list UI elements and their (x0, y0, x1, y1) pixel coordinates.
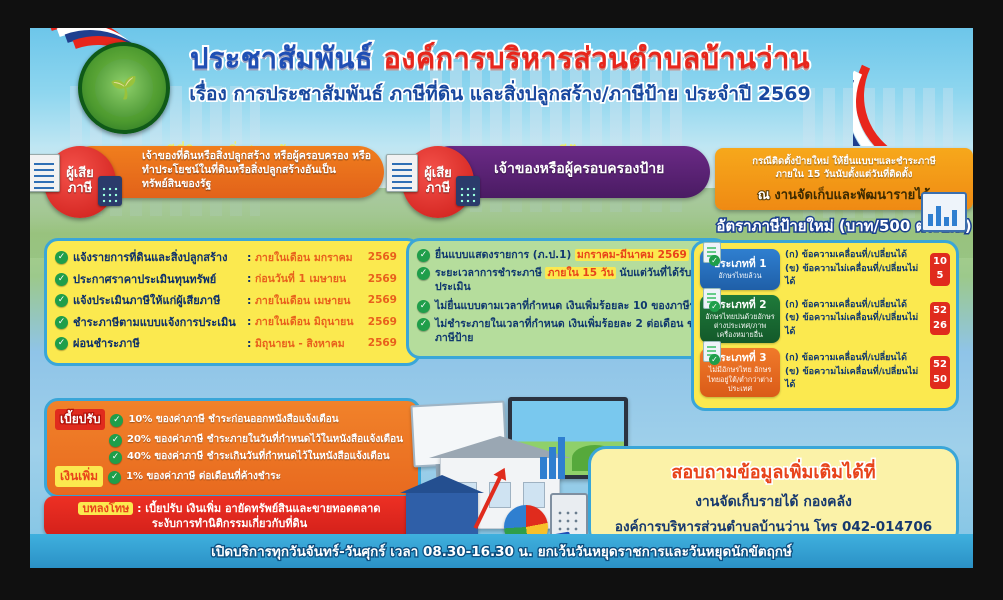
frame-left (0, 0, 30, 600)
calculator-icon (98, 176, 122, 206)
schedule-year: 2569 (363, 316, 397, 328)
penalty-text: 1% ของค่าภาษี ต่อเดือนที่ค้างชำระ (126, 469, 281, 484)
check-icon: ✓ (55, 273, 68, 286)
schedule-year: 2569 (363, 251, 397, 263)
contact-office: งานจัดเก็บรายได้ กองคลัง (601, 491, 946, 513)
rate-type-desc: ไม่มีอักษรไทย อักษรไทยอยู่ใต้/ต่ำกว่าต่า… (703, 365, 777, 393)
schedule-when: ภายในเดือน มิถุนายน (255, 313, 363, 330)
poster-canvas: 🌱 ประชาสัมพันธ์ องค์การบริหารส่วนตำบลบ้า… (30, 28, 973, 568)
rate-value: 26 (930, 319, 950, 334)
rate-item: (ก) ข้อความเคลื่อนที่/เปลี่ยนได้ (785, 299, 926, 313)
schedule-separator: : (247, 251, 255, 264)
rate-type-tag: ✓ ประเภทที่ 2 อักษรไทยปนด้วยอักษรต่างประ… (700, 295, 780, 344)
schedule-when: ภายในเดือน มกราคม (255, 249, 363, 266)
municipality-emblem: 🌱 (78, 42, 170, 134)
rate-item: (ข) ข้อความไม่เคลื่อนที่/เปลี่ยนไม่ได้ (785, 312, 926, 339)
rate-values: 10 5 (930, 253, 950, 286)
rate-item-list: (ก) ข้อความเคลื่อนที่/เปลี่ยนได้ (ข) ข้อ… (785, 299, 926, 340)
check-icon: ✓ (109, 451, 122, 464)
check-icon: ✓ (417, 318, 430, 331)
sign-tax-panel: ✓ ยื่นแบบแสดงรายการ (ภ.ป.1) มกราคม-มีนาค… (406, 238, 728, 359)
notice-line-2: ภายใน 15 วันนับตั้งแต่วันที่ติดตั้ง (723, 168, 965, 181)
schedule-when: ภายในเดือน เมษายน (255, 292, 363, 309)
schedule-year: 2569 (363, 273, 397, 285)
rate-item: (ก) ข้อความเคลื่อนที่/เปลี่ยนได้ (785, 352, 926, 366)
check-icon: ✓ (709, 301, 720, 312)
sign-tax-text: ระยะเวลาการชำระภาษี ภายใน 15 วัน นับแต่ว… (435, 266, 717, 294)
sign-tax-item: ✓ ไม่ชำระภายในเวลาที่กำหนด เงินเพิ่มร้อย… (417, 317, 717, 345)
rate-value: 52 (930, 358, 950, 373)
document-icon (30, 154, 60, 192)
schedule-separator: : (247, 315, 255, 328)
schedule-year: 2569 (363, 294, 397, 306)
rate-value: 50 (930, 373, 950, 388)
sign-tax-item: ✓ ระยะเวลาการชำระภาษี ภายใน 15 วัน นับแต… (417, 266, 717, 294)
page-title: ประชาสัมพันธ์ องค์การบริหารส่วนตำบลบ้านว… (170, 42, 830, 74)
check-icon: ✓ (110, 414, 123, 427)
calculator-icon (456, 176, 480, 206)
contact-box: สอบถามข้อมูลเพิ่มเติมได้ที่ งานจัดเก็บรา… (588, 446, 959, 548)
penalty-row: ✓ 20% ของค่าภาษี ชำระภายในวันที่กำหนดไว้… (55, 432, 410, 447)
check-icon: ✓ (108, 471, 121, 484)
penalty-row: เงินเพิ่ม ✓ 1% ของค่าภาษี ต่อเดือนที่ค้า… (55, 466, 410, 487)
rate-type-desc: อักษรไทยปนด้วยอักษรต่างประเทศ/ภาพเครื่อง… (703, 312, 777, 340)
frame-right (973, 0, 1003, 600)
schedule-row: ✓ผ่อนชำระภาษี : มิถุนายน - สิงหาคม 2569 (55, 334, 410, 352)
operating-hours-bar: เปิดบริการทุกวันจันทร์-วันศุกร์ เวลา 08.… (30, 534, 973, 568)
rate-item: (ก) ข้อความเคลื่อนที่/เปลี่ยนได้ (785, 249, 926, 263)
taxpayer-capsule-row: ภาษีที่ดินและสิ่งปลูกสร้าง เจ้าของที่ดิน… (30, 146, 973, 242)
page-subtitle: เรื่อง การประชาสัมพันธ์ ภาษีที่ดิน และสิ… (170, 79, 830, 109)
rate-cells: (ก) ข้อความเคลื่อนที่/เปลี่ยนได้ (ข) ข้อ… (785, 295, 950, 344)
schedule-label: ชำระภาษีตามแบบแจ้งการประเมิน (73, 313, 236, 331)
rate-row: ✓ ประเภทที่ 1 อักษรไทยล้วน (ก) ข้อความเค… (700, 249, 950, 290)
schedule-separator: : (247, 272, 255, 285)
rate-item: (ข) ข้อความไม่เคลื่อนที่/เปลี่ยนไม่ได้ (785, 366, 926, 393)
rate-row: ✓ ประเภทที่ 2 อักษรไทยปนด้วยอักษรต่างประ… (700, 295, 950, 344)
fine-tag: เบี้ยปรับ (55, 409, 105, 430)
schedule-separator: : (247, 294, 255, 307)
new-sign-notice: กรณีติดตั้งป้ายใหม่ ให้ยื่นแบบฯและชำระภา… (715, 148, 973, 238)
rate-value: 10 (930, 255, 950, 270)
penalty-row: ✓ 40% ของค่าภาษี ชำระเกินวันที่กำหนดไว้ใ… (55, 449, 410, 464)
penalty-text: 40% ของค่าภาษี ชำระเกินวันที่กำหนดไว้ในห… (127, 449, 390, 464)
sign-tax-text: ยื่นแบบแสดงรายการ (ภ.ป.1) มกราคม-มีนาคม … (435, 248, 689, 262)
thai-flag-ribbon-right (853, 28, 973, 146)
badge-line1: ผู้เสีย (424, 167, 452, 182)
rate-item: (ข) ข้อความไม่เคลื่อนที่/เปลี่ยนไม่ได้ (785, 263, 926, 290)
schedule-separator: : (247, 337, 255, 350)
land-tax-schedule-panel: ✓แจ้งรายการที่ดินและสิ่งปลูกสร้าง : ภายใ… (44, 238, 421, 366)
notice-highlight-text: งานจัดเก็บและพัฒนารายได้ (774, 188, 930, 203)
frame-bottom (0, 568, 1003, 600)
schedule-label: แจ้งรายการที่ดินและสิ่งปลูกสร้าง (73, 248, 227, 266)
rate-cells: (ก) ข้อความเคลื่อนที่/เปลี่ยนได้ (ข) ข้อ… (785, 348, 950, 397)
document-icon (386, 154, 418, 192)
badge-line1: ผู้เสีย (66, 167, 94, 182)
schedule-label: ประกาศราคาประเมินทุนทรัพย์ (73, 270, 216, 288)
rate-type-tag: ✓ ประเภทที่ 3 ไม่มีอักษรไทย อักษรไทยอยู่… (700, 348, 780, 397)
title-part-announcement: ประชาสัมพันธ์ (190, 41, 383, 75)
schedule-row: ✓ประกาศราคาประเมินทุนทรัพย์ : ก่อนวันที่… (55, 270, 410, 288)
badge-line2: ภาษี (68, 182, 92, 197)
emblem-inner: 🌱 (95, 59, 153, 117)
criminal-penalty-box: บทลงโทษ : เบี้ยปรับ เงินเพิ่ม อายัดทรัพย… (44, 496, 415, 537)
rate-value: 52 (930, 304, 950, 319)
poster-header: 🌱 ประชาสัมพันธ์ องค์การบริหารส่วนตำบลบ้า… (30, 28, 973, 148)
penalty-panel: เบี้ยปรับ ✓ 10% ของค่าภาษี ชำระก่อนออกหน… (44, 398, 421, 498)
penalty-text: 20% ของค่าภาษี ชำระภายในวันที่กำหนดไว้ใน… (127, 432, 403, 447)
penalty-row: เบี้ยปรับ ✓ 10% ของค่าภาษี ชำระก่อนออกหน… (55, 409, 410, 430)
check-icon: ✓ (417, 267, 430, 280)
bar-chart-icon (921, 192, 967, 232)
check-icon: ✓ (417, 249, 430, 262)
check-icon: ✓ (55, 251, 68, 264)
rate-type-desc: อักษรไทยล้วน (703, 271, 777, 280)
criminal-line-2: ระงับการทำนิติกรรมเกี่ยวกับที่ดิน (52, 516, 407, 531)
rate-values: 52 50 (930, 356, 950, 389)
penalty-text: 10% ของค่าภาษี ชำระก่อนออกหนังสือแจ้งเตื… (128, 412, 338, 427)
notice-line-1: กรณีติดตั้งป้ายใหม่ ให้ยื่นแบบฯและชำระภา… (723, 155, 965, 168)
check-icon: ✓ (55, 294, 68, 307)
criminal-line-1: บทลงโทษ : เบี้ยปรับ เงินเพิ่ม อายัดทรัพย… (52, 501, 407, 516)
contact-heading: สอบถามข้อมูลเพิ่มเติมได้ที่ (601, 457, 946, 486)
schedule-row: ✓แจ้งประเมินภาษีให้แก่ผู้เสียภาษี : ภายใ… (55, 291, 410, 309)
rate-item-list: (ก) ข้อความเคลื่อนที่/เปลี่ยนได้ (ข) ข้อ… (785, 352, 926, 393)
badge-line2: ภาษี (426, 182, 450, 197)
criminal-tag: บทลงโทษ (78, 502, 133, 515)
rate-item-list: (ก) ข้อความเคลื่อนที่/เปลี่ยนได้ (ข) ข้อ… (785, 249, 926, 290)
sign-tax-text: ไม่ชำระภายในเวลาที่กำหนด เงินเพิ่มร้อยละ… (435, 317, 717, 345)
rate-cells: (ก) ข้อความเคลื่อนที่/เปลี่ยนได้ (ข) ข้อ… (785, 249, 950, 290)
schedule-label: แจ้งประเมินภาษีให้แก่ผู้เสียภาษี (73, 291, 220, 309)
sign-tax-item: ✓ ยื่นแบบแสดงรายการ (ภ.ป.1) มกราคม-มีนาค… (417, 248, 717, 262)
check-icon: ✓ (709, 255, 720, 266)
frame-top (0, 0, 1003, 28)
header-titles: ประชาสัมพันธ์ องค์การบริหารส่วนตำบลบ้านว… (170, 42, 830, 109)
sign-text-pre: ยื่นแบบแสดงรายการ (ภ.ป.1) (435, 249, 575, 261)
schedule-label: ผ่อนชำระภาษี (73, 334, 140, 352)
schedule-when: ก่อนวันที่ 1 เมษายน (255, 270, 363, 287)
check-icon: ✓ (55, 337, 68, 350)
sign-rate-table-panel: ✓ ประเภทที่ 1 อักษรไทยล้วน (ก) ข้อความเค… (691, 240, 959, 411)
check-icon: ✓ (417, 300, 430, 313)
schedule-when: มิถุนายน - สิงหาคม (255, 335, 363, 352)
notice-highlight-prefix: ณ (758, 188, 775, 203)
rate-row: ✓ ประเภทที่ 3 ไม่มีอักษรไทย อักษรไทยอยู่… (700, 348, 950, 397)
criminal-text: : เบี้ยปรับ เงินเพิ่ม อายัดทรัพย์สินและข… (133, 502, 380, 515)
operating-hours-text: เปิดบริการทุกวันจันทร์-วันศุกร์ เวลา 08.… (211, 540, 792, 562)
rate-value: 5 (930, 269, 950, 284)
schedule-row: ✓ชำระภาษีตามแบบแจ้งการประเมิน : ภายในเดื… (55, 313, 410, 331)
schedule-year: 2569 (363, 337, 397, 349)
title-part-org: องค์การบริหารส่วนตำบลบ้านว่าน (383, 41, 810, 75)
surcharge-tag: เงินเพิ่ม (55, 466, 103, 487)
rate-values: 52 26 (930, 302, 950, 335)
check-icon: ✓ (55, 316, 68, 329)
sign-tax-text: ไม่ยื่นแบบตามเวลาที่กำหนด เงินเพิ่มร้อยล… (435, 299, 708, 313)
sign-text-mark: ภายใน 15 วัน (545, 267, 615, 279)
poster-root: 🌱 ประชาสัมพันธ์ องค์การบริหารส่วนตำบลบ้า… (0, 0, 1003, 600)
sign-text-mark: มกราคม-มีนาคม 2569 (575, 249, 689, 261)
check-icon: ✓ (109, 434, 122, 447)
sign-text-pre: ระยะเวลาการชำระภาษี (435, 267, 545, 279)
schedule-row: ✓แจ้งรายการที่ดินและสิ่งปลูกสร้าง : ภายใ… (55, 248, 410, 266)
rate-type-tag: ✓ ประเภทที่ 1 อักษรไทยล้วน (700, 249, 780, 290)
sign-tax-item: ✓ ไม่ยื่นแบบตามเวลาที่กำหนด เงินเพิ่มร้อ… (417, 299, 717, 313)
